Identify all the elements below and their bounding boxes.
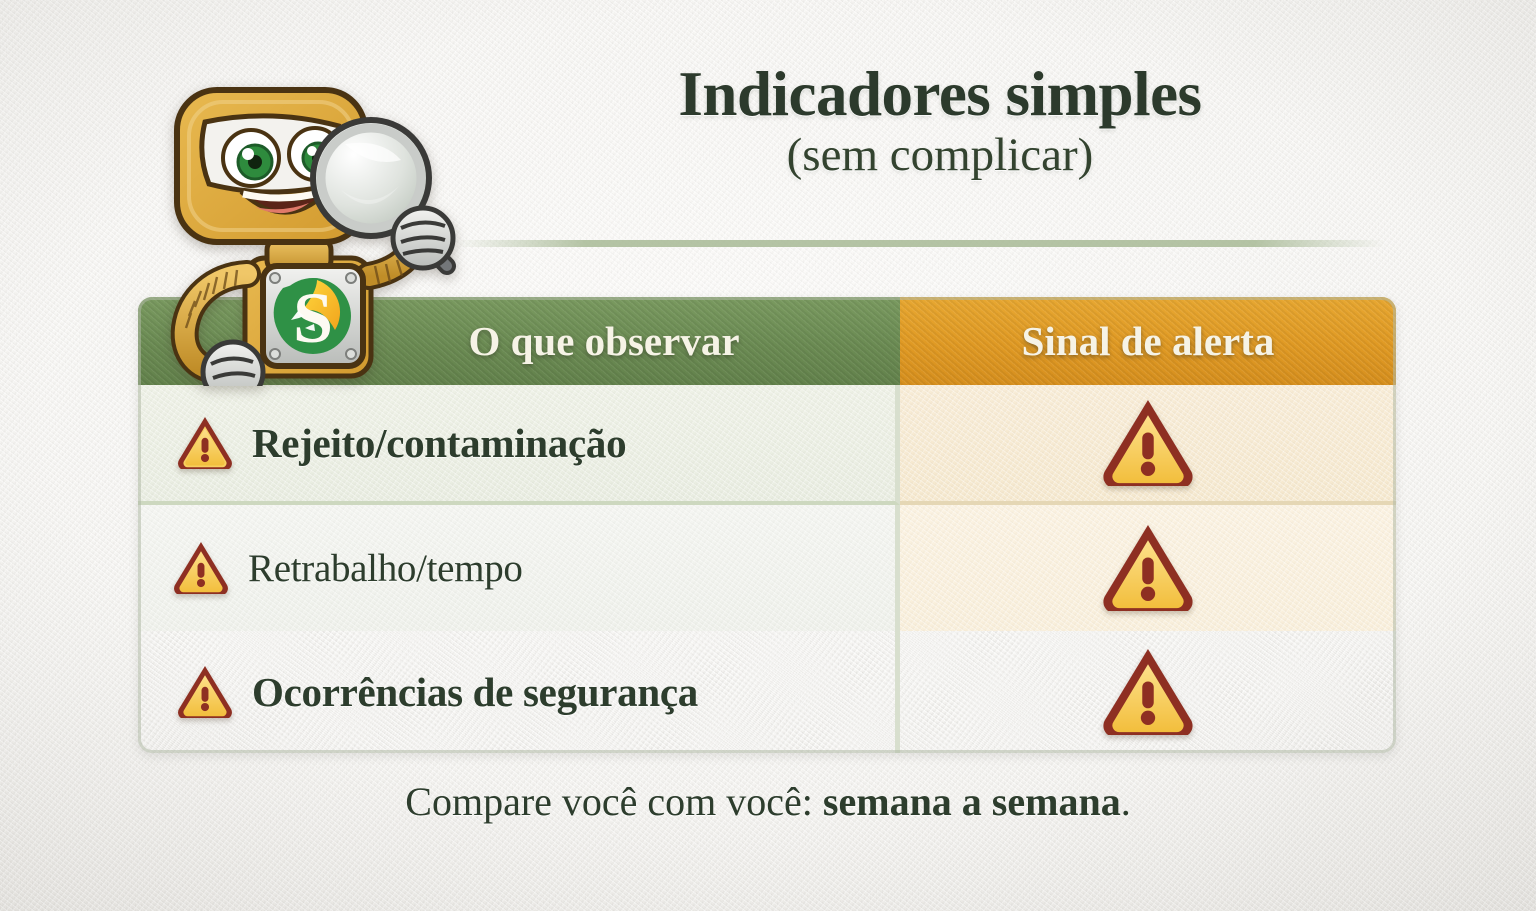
cell-observe: Retrabalho/tempo [138,505,900,631]
robot-left-hand [203,342,263,386]
cell-observe: Rejeito/contaminação [138,385,900,505]
table-row: Ocorrências de segurança [138,631,1396,753]
column-header-alert-label: Sinal de alerta [1022,317,1275,365]
footer-tail: . [1121,779,1131,824]
cell-alert [900,631,1396,753]
row-label-observe: Rejeito/contaminação [252,419,626,467]
page-title: Indicadores simples [470,62,1410,128]
cell-observe: Ocorrências de segurança [138,631,900,753]
footer-note: Compare você com você: semana a semana. [0,778,1536,825]
warning-triangle-icon [172,542,230,594]
warning-triangle-icon [1100,400,1196,486]
robot-mascot: S [155,70,465,386]
title-block: Indicadores simples (sem complicar) [470,62,1410,181]
table-row: Rejeito/contaminação [138,385,1396,505]
table-row: Retrabalho/tempo [138,505,1396,631]
warning-triangle-icon [176,666,234,718]
warning-triangle-icon [1100,525,1196,611]
footer-lead: Compare você com você: [405,779,823,824]
robot-right-hand [393,208,453,268]
title-divider-rule [455,240,1385,247]
warning-triangle-icon [1100,649,1196,735]
footer-emphasis: semana a semana [823,779,1121,824]
cell-alert [900,505,1396,631]
cell-alert [900,385,1396,505]
page-subtitle: (sem complicar) [470,130,1410,182]
row-label-observe: Retrabalho/tempo [248,546,523,591]
row-label-observe: Ocorrências de segurança [252,668,698,716]
warning-triangle-icon [176,417,234,469]
column-header-alert: Sinal de alerta [900,297,1396,385]
robot-chest-badge: S [263,266,363,366]
